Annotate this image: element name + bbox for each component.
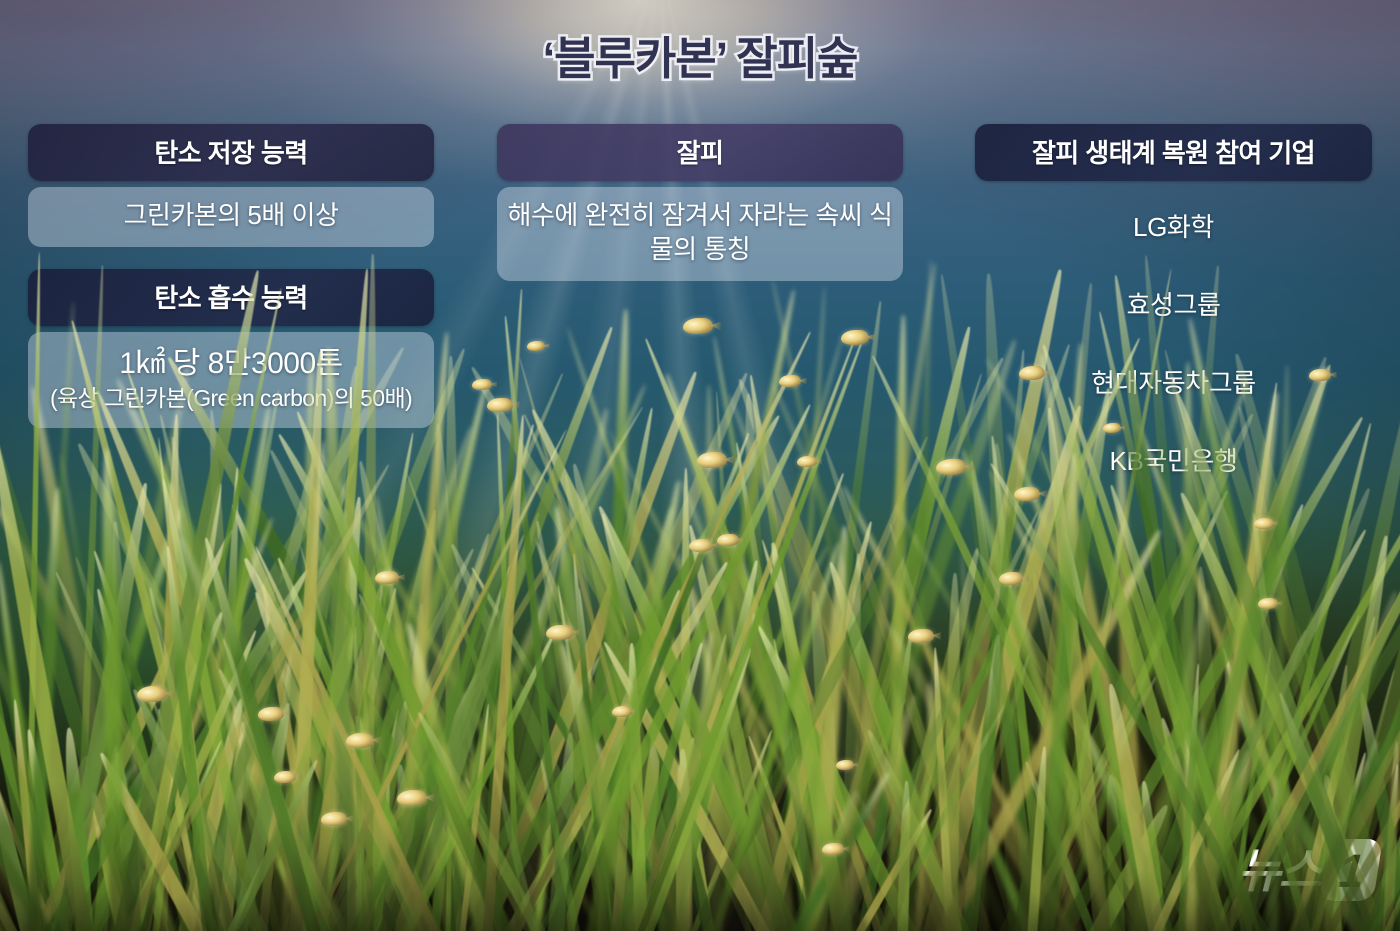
fish <box>546 625 574 640</box>
fish <box>1014 487 1040 501</box>
fish <box>527 341 545 351</box>
fish <box>683 318 713 334</box>
fish <box>697 452 727 468</box>
fish <box>1258 598 1278 609</box>
fish <box>822 843 844 855</box>
fish <box>797 456 817 467</box>
fish <box>999 572 1023 585</box>
fish <box>258 707 284 721</box>
list-item: LG화학 <box>975 194 1372 259</box>
infographic-canvas: ‘블루카본’ 잘피숲 탄소 저장 능력 그린카본의 5배 이상 탄소 흡수 능력… <box>0 0 1400 931</box>
panel-header-participating-companies: 잘피 생태계 복원 참여 기업 <box>975 124 1372 181</box>
fish <box>836 760 854 770</box>
fish <box>397 790 427 806</box>
fish <box>1103 423 1121 433</box>
list-item: 효성그룹 <box>975 272 1372 337</box>
fish <box>375 571 399 584</box>
fish <box>717 534 739 546</box>
panel-body-carbon-storage: 그린카본의 5배 이상 <box>28 187 434 247</box>
panel-header-carbon-storage: 탄소 저장 능력 <box>28 124 434 181</box>
fish <box>1019 366 1045 380</box>
fish <box>346 733 374 748</box>
center-column: 잘피 해수에 완전히 잠겨서 자라는 속씨 식물의 통칭 <box>497 124 903 281</box>
fish <box>779 375 801 387</box>
fish <box>612 706 632 717</box>
fish <box>472 379 492 390</box>
fish <box>1309 369 1331 381</box>
panel-body-jalpi: 해수에 완전히 잠겨서 자라는 속씨 식물의 통칭 <box>497 187 903 281</box>
panel-header-jalpi: 잘피 <box>497 124 903 181</box>
fish <box>487 398 513 412</box>
fish <box>908 629 934 643</box>
fish <box>274 771 296 783</box>
fish <box>689 539 713 552</box>
fish <box>936 459 966 475</box>
page-title: ‘블루카본’ 잘피숲 <box>0 22 1400 87</box>
fish <box>321 812 347 826</box>
fish <box>1254 518 1274 529</box>
fish <box>137 686 167 702</box>
fish <box>841 330 869 345</box>
